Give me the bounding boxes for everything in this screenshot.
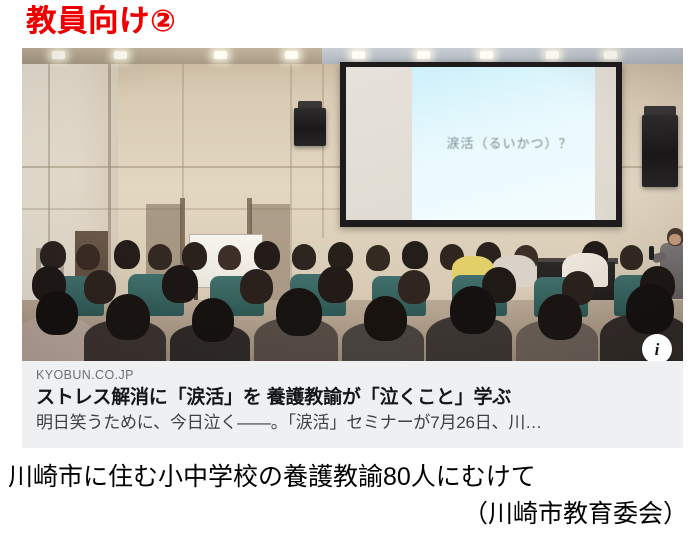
slide-title: 教員向け② bbox=[26, 2, 176, 42]
link-card-text: KYOBUN.CO.JP ストレス解消に「涙活」を 養護教諭が「泣くこと」学ぶ … bbox=[22, 361, 683, 448]
info-icon-glyph: i bbox=[655, 341, 660, 358]
link-preview-card[interactable]: 涙活（るいかつ）？ bbox=[22, 48, 683, 448]
link-card-description: 明日笑うために、今日泣く——。「涙活」セミナーが7月26日、川… bbox=[36, 411, 671, 435]
caption-line-2: （川崎市教育委会） bbox=[463, 497, 688, 531]
photo-vignette bbox=[22, 48, 683, 361]
seminar-room-photo: 涙活（るいかつ）？ bbox=[22, 48, 683, 361]
link-card-domain: KYOBUN.CO.JP bbox=[36, 367, 671, 383]
caption-line-1: 川崎市に住む小中学校の養護教諭80人にむけて bbox=[8, 460, 536, 494]
info-icon[interactable]: i bbox=[642, 334, 672, 364]
link-card-headline: ストレス解消に「涙活」を 養護教諭が「泣くこと」学ぶ bbox=[36, 385, 671, 410]
